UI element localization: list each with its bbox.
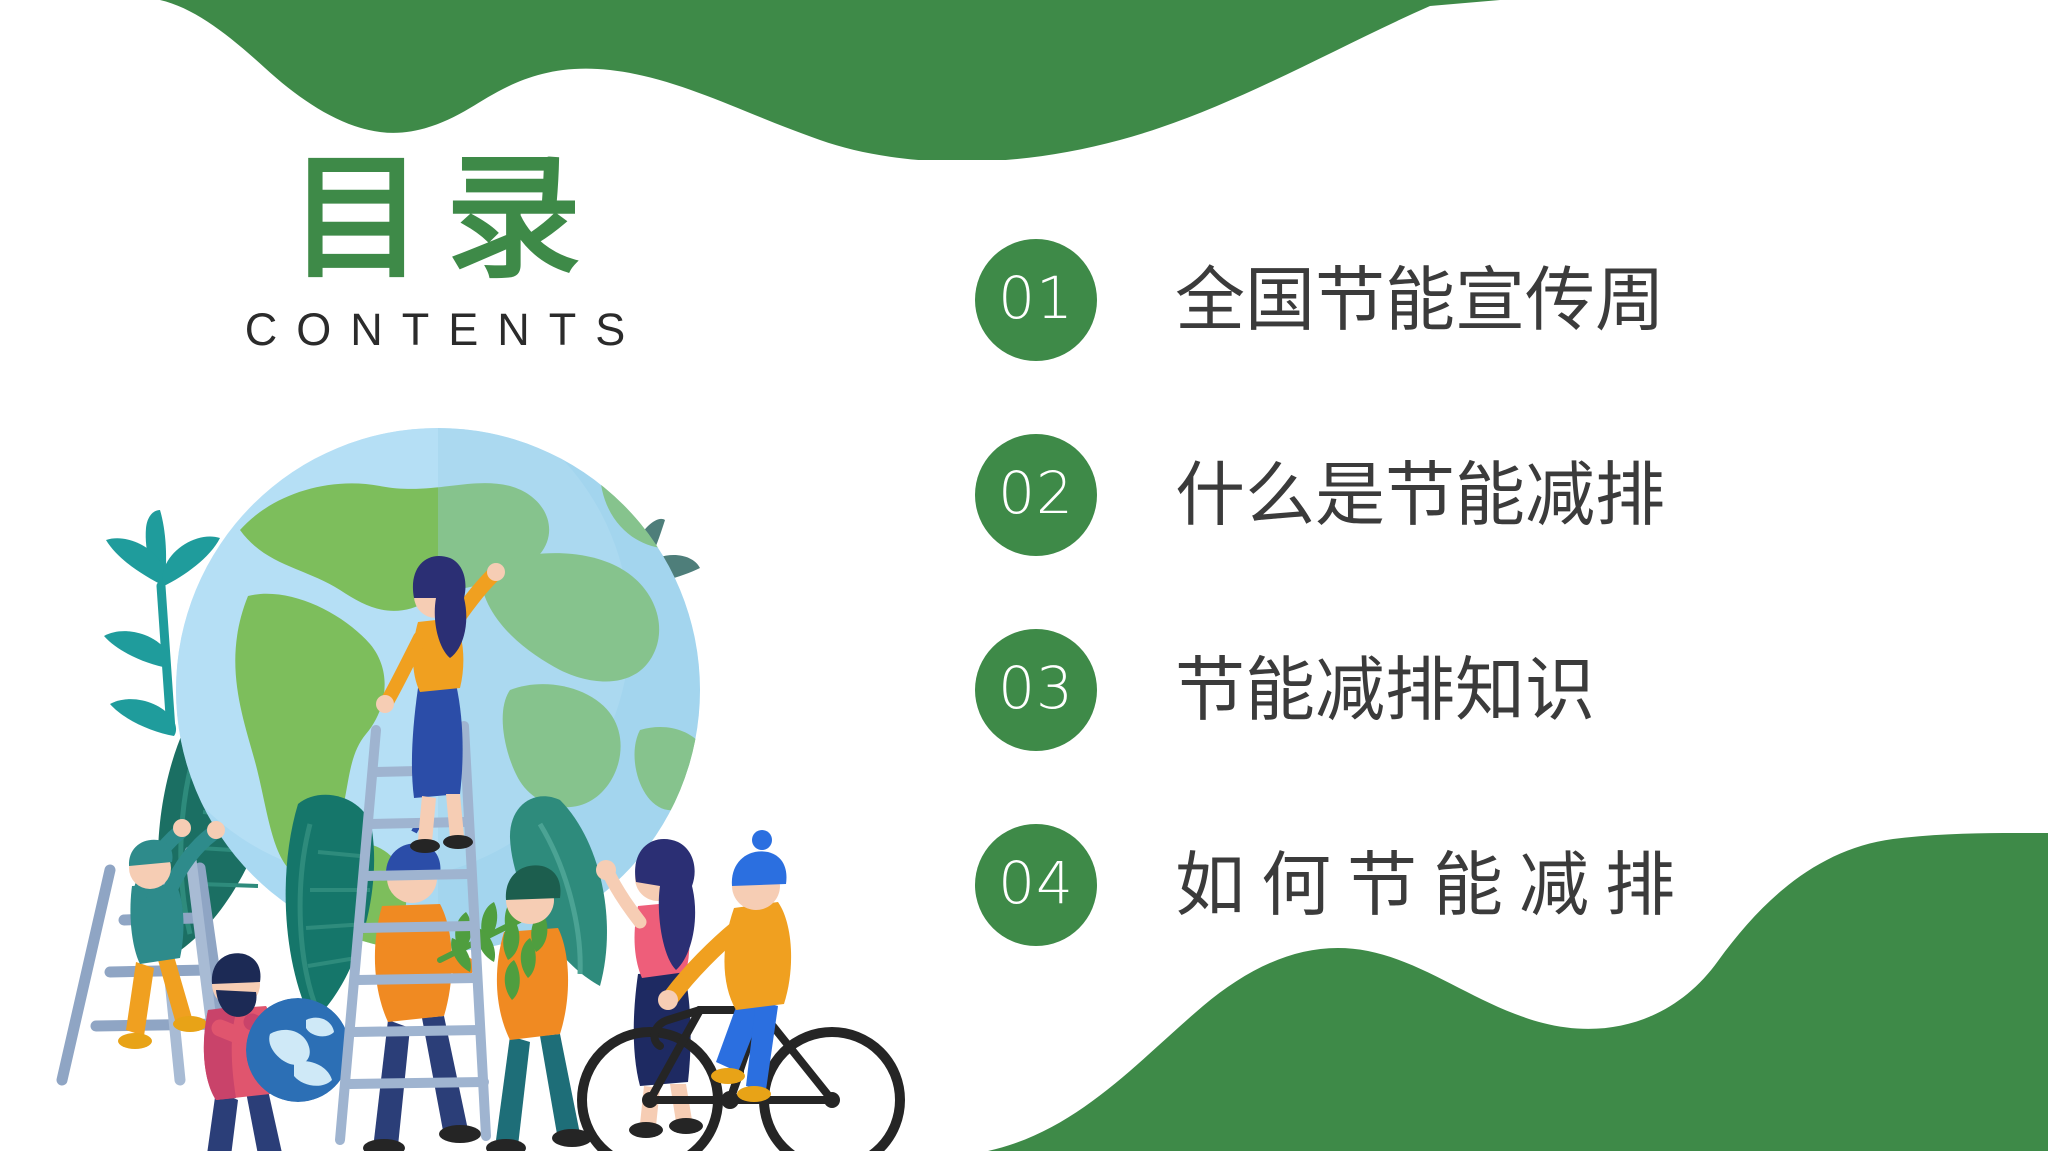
- contents-item-01[interactable]: 01 全国节能宣传周: [975, 235, 1975, 365]
- small-globe: [246, 998, 350, 1102]
- contents-number-badge-01: 01: [975, 239, 1097, 361]
- contents-number-badge-02: 02: [975, 434, 1097, 556]
- contents-label-02: 什么是节能减排: [1175, 460, 1665, 530]
- page-subtitle: CONTENTS: [155, 304, 715, 356]
- slide-canvas: 目录 CONTENTS: [0, 0, 2048, 1151]
- title-block: 目录 CONTENTS: [155, 150, 715, 356]
- contents-number-badge-03: 03: [975, 629, 1097, 751]
- contents-item-02[interactable]: 02 什么是节能减排: [975, 430, 1975, 560]
- page-title: 目录: [155, 150, 715, 288]
- contents-number-badge-04: 04: [975, 824, 1097, 946]
- contents-label-04: 如何节能减排: [1175, 850, 1691, 920]
- contents-item-03[interactable]: 03 节能减排知识: [975, 625, 1975, 755]
- earth-day-people-illustration: [40, 400, 930, 1151]
- cyclist-with-bicycle: [582, 830, 900, 1151]
- contents-label-01: 全国节能宣传周: [1175, 265, 1665, 335]
- contents-label-03: 节能减排知识: [1175, 655, 1595, 725]
- contents-item-04[interactable]: 04 如何节能减排: [975, 820, 1975, 950]
- contents-list: 01 全国节能宣传周 02 什么是节能减排 03 节能减排知识 04 如何节能减…: [975, 235, 1975, 950]
- top-left-green-wave: [0, 0, 1500, 160]
